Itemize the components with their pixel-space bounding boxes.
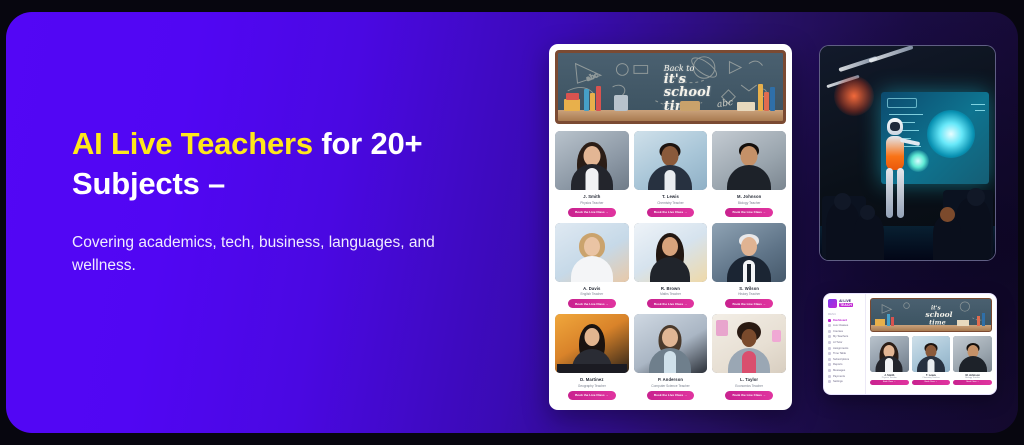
teacher-role: Economics Teacher	[735, 384, 763, 388]
sidebar-item-label: Time Table	[833, 352, 846, 355]
sidebar-item-payments[interactable]: Payments	[828, 375, 861, 378]
sidebar-item-time-table[interactable]: Time Table	[828, 352, 861, 355]
teacher-name: J. Smith	[583, 194, 600, 199]
hologram-orb-icon	[927, 110, 975, 158]
teacher-video-thumbnail[interactable]	[634, 223, 708, 282]
dashboard-icon	[828, 319, 831, 322]
book-icon	[596, 86, 601, 111]
logo-badge: TEACH	[839, 303, 853, 307]
book-class-button[interactable]: Book Class →	[953, 380, 992, 385]
sidebar-item-reports[interactable]: Reports	[828, 363, 861, 366]
robot-teacher-icon	[882, 118, 908, 226]
sidebar-item-label: Reports	[833, 363, 842, 366]
wallet-icon	[828, 375, 831, 378]
book-class-button[interactable]: Book the Live Class →	[725, 208, 772, 217]
dashboard-teacher-card[interactable]: M. Johnson Biology Teacher Book Class →	[953, 336, 992, 385]
teacher-name: D. Martinez	[580, 377, 603, 382]
teacher-card[interactable]: T. Lewis Chemistry Teacher Book the Live…	[634, 131, 708, 217]
book-icon	[764, 92, 769, 111]
banner-shelf	[558, 110, 783, 121]
sidebar-item-label: Subscriptions	[833, 358, 849, 361]
book-class-button[interactable]: Book the Live Class →	[568, 391, 615, 400]
sidebar-item-label: Courses	[833, 330, 843, 333]
card-icon	[828, 358, 831, 361]
book-icon	[584, 89, 589, 111]
book-icon	[758, 84, 763, 111]
teacher-name: A. Davis	[583, 286, 600, 291]
video-icon	[828, 324, 831, 327]
audience-head	[940, 207, 955, 222]
teacher-card[interactable]: A. Davis English Teacher Book the Live C…	[555, 223, 629, 309]
sidebar-section-label: MENU	[828, 313, 861, 316]
teacher-role: History Teacher	[738, 292, 760, 296]
teacher-video-thumbnail[interactable]	[712, 131, 786, 190]
teacher-role: Chemistry Teacher	[912, 377, 951, 379]
teacher-card[interactable]: M. Johnson Biology Teacher Book the Live…	[712, 131, 786, 217]
logo-mark-icon	[828, 299, 837, 308]
book-icon	[566, 93, 579, 100]
sidebar-item-messages[interactable]: Messages	[828, 369, 861, 372]
teachers-panel: abc Back to it's school time abc	[549, 44, 792, 410]
sidebar-item-ai-tutor[interactable]: AI Tutor	[828, 341, 861, 344]
audience-silhouette	[933, 216, 961, 260]
sidebar-item-live-classes[interactable]: Live Classes	[828, 324, 861, 327]
teacher-video-thumbnail[interactable]	[634, 131, 708, 190]
sidebar-item-settings[interactable]: Settings	[828, 380, 861, 383]
teacher-video-thumbnail[interactable]	[712, 223, 786, 282]
school-time-banner: abc Back to it's school time abc	[555, 50, 786, 124]
teacher-video-thumbnail[interactable]	[634, 314, 708, 373]
sidebar-item-assignments[interactable]: Assignments	[828, 347, 861, 350]
book-class-button[interactable]: Book the Live Class →	[647, 391, 694, 400]
hologram-orb-small-icon	[907, 150, 929, 172]
ceiling-lamp-glow	[834, 76, 874, 116]
app-logo[interactable]: AI LIVE TEACH	[828, 299, 861, 308]
book-icon	[828, 330, 831, 333]
teacher-role: Physics Teacher	[580, 201, 603, 205]
teacher-card[interactable]: L. Taylor Economics Teacher Book the Liv…	[712, 314, 786, 400]
audience-head	[860, 205, 875, 220]
teacher-card[interactable]: D. Martinez Geography Teacher Book the L…	[555, 314, 629, 400]
svg-text:abc: abc	[585, 71, 599, 83]
dashboard-banner: it's school time	[870, 298, 992, 332]
teacher-role: English Teacher	[581, 292, 604, 296]
teacher-name: L. Taylor	[740, 377, 758, 382]
teacher-name: M. Johnson	[737, 194, 761, 199]
sidebar-item-courses[interactable]: Courses	[828, 330, 861, 333]
book-class-button[interactable]: Book the Live Class →	[568, 208, 615, 217]
book-class-button[interactable]: Book the Live Class →	[568, 299, 615, 308]
hero-banner: AI Live Teachers for 20+ Subjects – Cove…	[6, 12, 1018, 433]
sidebar-item-subscriptions[interactable]: Subscriptions	[828, 358, 861, 361]
teacher-role: Physics Teacher	[870, 377, 909, 379]
teacher-card[interactable]: P. Anderson Computer Science Teacher Boo…	[634, 314, 708, 400]
sidebar-item-dashboard[interactable]: Dashboard	[828, 319, 861, 322]
hero-subcopy: Covering academics, tech, business, lang…	[72, 231, 472, 278]
chart-icon	[828, 363, 831, 366]
book-icon	[737, 102, 755, 111]
dashboard-teacher-card[interactable]: J. Smith Physics Teacher Book Class →	[870, 336, 909, 385]
teacher-name: R. Brown	[661, 286, 680, 291]
sidebar-item-label: Live Classes	[833, 324, 848, 327]
teacher-role: Biology Teacher	[738, 201, 761, 205]
gear-icon	[828, 380, 831, 383]
sidebar-item-label: Dashboard	[833, 319, 847, 322]
sidebar-item-my-teachers[interactable]: My Teachers	[828, 335, 861, 338]
dashboard-teacher-grid: J. Smith Physics Teacher Book Class → T.…	[870, 336, 992, 385]
sidebar-item-label: Messages	[833, 369, 845, 372]
teacher-role: Maths Teacher	[660, 292, 681, 296]
book-icon	[590, 93, 595, 111]
sidebar-item-label: Payments	[833, 375, 845, 378]
headline-accent: AI Live Teachers	[72, 126, 313, 161]
teacher-video-thumbnail[interactable]	[953, 336, 992, 372]
clipboard-icon	[828, 347, 831, 350]
audience-head	[834, 193, 851, 210]
book-icon	[564, 99, 580, 111]
teacher-name: T. Lewis	[662, 194, 679, 199]
book-class-button[interactable]: Book the Live Class →	[647, 208, 694, 217]
teacher-role: Computer Science Teacher	[651, 384, 689, 388]
teacher-video-thumbnail[interactable]	[712, 314, 786, 373]
book-class-button[interactable]: Book the Live Class →	[725, 299, 772, 308]
book-class-button[interactable]: Book Class →	[870, 380, 909, 385]
teacher-card[interactable]: J. Smith Physics Teacher Book the Live C…	[555, 131, 629, 217]
mail-icon	[828, 369, 831, 372]
dashboard-main: it's school time	[866, 294, 996, 394]
page-title: AI Live Teachers for 20+ Subjects –	[72, 124, 502, 205]
teacher-card[interactable]: S. Wilson History Teacher Book the Live …	[712, 223, 786, 309]
teacher-video-thumbnail[interactable]	[555, 314, 629, 373]
audience-head	[967, 188, 985, 206]
audience-silhouette	[854, 214, 884, 260]
teacher-name: S. Wilson	[739, 286, 759, 291]
teacher-video-thumbnail[interactable]	[555, 131, 629, 190]
sidebar-item-label: AI Tutor	[833, 341, 842, 344]
dashboard-teacher-card[interactable]: T. Lewis Chemistry Teacher Book Class →	[912, 336, 951, 385]
book-icon	[770, 87, 775, 111]
hero-copy: AI Live Teachers for 20+ Subjects – Cove…	[72, 124, 502, 278]
users-icon	[828, 335, 831, 338]
teacher-role: Biology Teacher	[953, 377, 992, 379]
pencil-cup-icon	[614, 95, 628, 111]
bag-icon	[680, 101, 700, 111]
teacher-grid: J. Smith Physics Teacher Book the Live C…	[555, 131, 786, 400]
teacher-video-thumbnail[interactable]	[555, 223, 629, 282]
dashboard-sidebar: AI LIVE TEACH MENU Dashboard Live Classe…	[824, 294, 866, 394]
teacher-card[interactable]: R. Brown Maths Teacher Book the Live Cla…	[634, 223, 708, 309]
teacher-video-thumbnail[interactable]	[870, 336, 909, 372]
sidebar-item-label: My Teachers	[833, 335, 848, 338]
sidebar-item-label: Assignments	[833, 347, 848, 350]
sidebar-item-label: Settings	[833, 380, 843, 383]
teacher-role: Geography Teacher	[578, 384, 606, 388]
book-class-button[interactable]: Book the Live Class →	[725, 391, 772, 400]
teacher-video-thumbnail[interactable]	[912, 336, 951, 372]
teacher-role: Chemistry Teacher	[657, 201, 684, 205]
calendar-icon	[828, 352, 831, 355]
book-class-button[interactable]: Book Class →	[912, 380, 951, 385]
ai-classroom-image	[819, 45, 996, 261]
robot-icon	[828, 341, 831, 344]
teacher-name: P. Anderson	[658, 377, 683, 382]
book-class-button[interactable]: Book the Live Class →	[647, 299, 694, 308]
dashboard-mockup: AI LIVE TEACH MENU Dashboard Live Classe…	[823, 293, 997, 395]
